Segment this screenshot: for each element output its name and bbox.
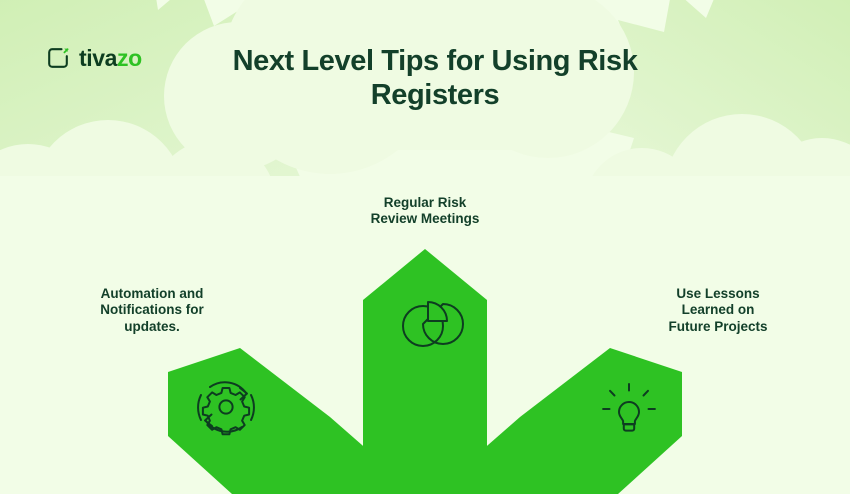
node-shape-center[interactable] <box>363 249 487 494</box>
node-label-center: Regular Risk Review Meetings <box>345 195 505 228</box>
tivazo-square-logo-icon <box>46 46 70 70</box>
page-title: Next Level Tips for Using Risk Registers <box>205 44 665 112</box>
node-label-left: Automation and Notifications for updates… <box>77 286 227 335</box>
infographic-canvas: tivazo Next Level Tips for Using Risk Re… <box>0 0 850 494</box>
brand-name-accent: zo <box>117 45 142 71</box>
brand-logo[interactable]: tivazo <box>46 46 142 70</box>
brand-wordmark: tivazo <box>79 47 142 70</box>
node-label-right: Use Lessons Learned on Future Projects <box>643 286 793 335</box>
brand-name-dark: tiva <box>79 45 117 71</box>
